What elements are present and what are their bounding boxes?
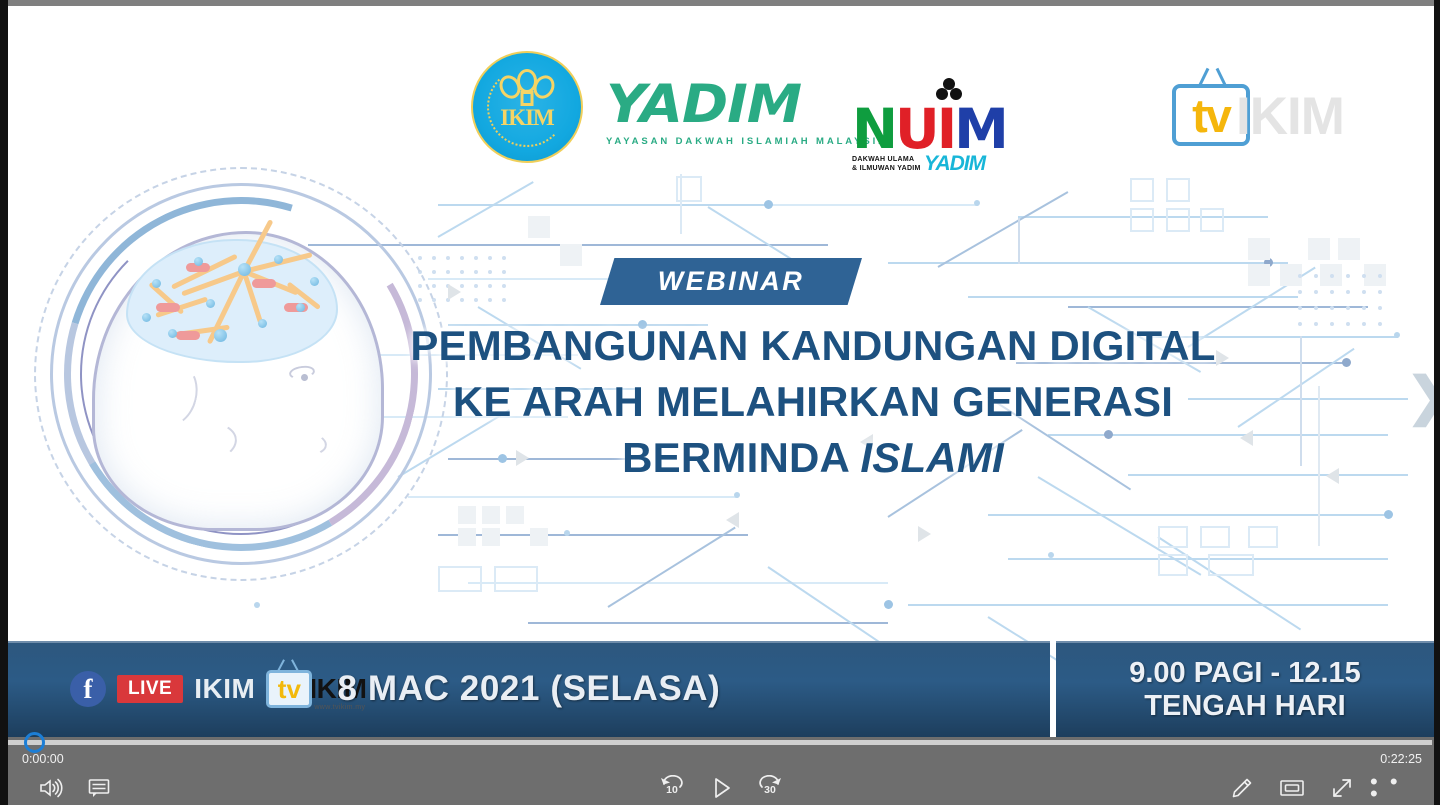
tvikim-logo: tv IKIM — [1166, 64, 1416, 150]
title-line-2: KE ARAH MELAHIRKAN GENERASI — [308, 374, 1318, 430]
capture-button[interactable] — [1270, 771, 1314, 805]
title-line-1: PEMBANGUNAN KANDUNGAN DIGITAL — [308, 318, 1318, 374]
progress-scrubber-handle[interactable] — [24, 732, 45, 753]
rewind-seconds-label: 10 — [650, 784, 694, 796]
title-line-3: BERMINDA ISLAMI — [308, 430, 1318, 486]
ikim-seal-letters: IKIM — [500, 105, 554, 131]
fullscreen-button[interactable] — [1320, 771, 1364, 805]
event-info-banner: f LIVE IKIM tv IKIM www.tvikim.my 8 MAC … — [8, 641, 1434, 737]
tv-antenna-icon — [1192, 66, 1234, 86]
page-title: PEMBANGUNAN KANDUNGAN DIGITAL KE ARAH ME… — [308, 318, 1318, 486]
tvikim-tv-text: tv — [1192, 92, 1230, 139]
control-buttons-row: 10 30 — [0, 771, 1440, 805]
title-line-3-italic: ISLAMI — [860, 434, 1004, 481]
pencil-icon — [1230, 776, 1254, 800]
sponsor-logo-bar: IKIM YADIM YAYASAN DAKWAH ISLAMIAH MALAY… — [16, 30, 1434, 160]
volume-icon — [38, 777, 64, 799]
banner-left-panel: f LIVE IKIM tv IKIM www.tvikim.my 8 MAC … — [8, 641, 1050, 737]
decorative-chevron-icon: ❯ — [1406, 371, 1434, 423]
screenshot-icon — [1279, 778, 1305, 798]
edit-button[interactable] — [1220, 771, 1264, 805]
nuim-subtitle-line2: & ILMUWAN YADIM — [852, 165, 921, 174]
nuim-yadim-subbrand: YADIM — [924, 152, 985, 176]
frame-left-border — [0, 0, 8, 805]
rewind-10-button[interactable]: 10 — [650, 771, 694, 805]
webinar-badge-label: WEBINAR — [658, 266, 805, 297]
captions-button[interactable] — [78, 771, 120, 805]
video-slide[interactable]: ❯ — [8, 6, 1434, 737]
progress-row: 0:00:00 0:22:25 — [0, 737, 1440, 771]
nuim-logo: NUIM DAKWAH ULAMA & ILMUWAN YADIM YADIM — [852, 76, 1012, 172]
nuim-subtitle-line1: DAKWAH ULAMA — [852, 156, 921, 165]
event-time-line2: TENGAH HARI — [1129, 690, 1361, 723]
frame-right-border — [1434, 0, 1440, 805]
event-time-line1: 9.00 PAGI - 12.15 — [1129, 657, 1361, 690]
nuim-letter-n: N — [852, 97, 895, 161]
more-options-button[interactable]: • • • — [1370, 771, 1414, 805]
current-time-label: 0:00:00 — [22, 752, 64, 766]
yadim-logo: YADIM YAYASAN DAKWAH ISLAMIAH MALAYSIA — [606, 78, 888, 147]
title-line-3-normal: BERMINDA — [622, 434, 860, 481]
ikim-seal-logo: IKIM — [471, 51, 583, 163]
captions-icon — [87, 777, 111, 799]
player-controls-bar: 0:00:00 0:22:25 — [0, 737, 1440, 805]
video-player-window: ❯ — [0, 0, 1440, 805]
fullscreen-icon — [1330, 776, 1354, 800]
tvikim-ikim-text: IKIM — [1236, 90, 1344, 143]
progress-bar-track[interactable] — [8, 740, 1432, 745]
webinar-badge: WEBINAR — [600, 258, 862, 305]
play-icon — [711, 776, 733, 800]
banner-right-panel: 9.00 PAGI - 12.15 TENGAH HARI — [1056, 641, 1434, 737]
total-time-label: 0:22:25 — [1380, 752, 1422, 766]
volume-button[interactable] — [30, 771, 72, 805]
event-date: 8 MAC 2021 (SELASA) — [8, 669, 1050, 709]
event-time: 9.00 PAGI - 12.15 TENGAH HARI — [1129, 657, 1361, 723]
forward-30-button[interactable]: 30 — [748, 771, 792, 805]
play-button[interactable] — [700, 771, 744, 805]
yadim-tagline: YAYASAN DAKWAH ISLAMIAH MALAYSIA — [606, 136, 888, 147]
forward-seconds-label: 30 — [748, 784, 792, 796]
